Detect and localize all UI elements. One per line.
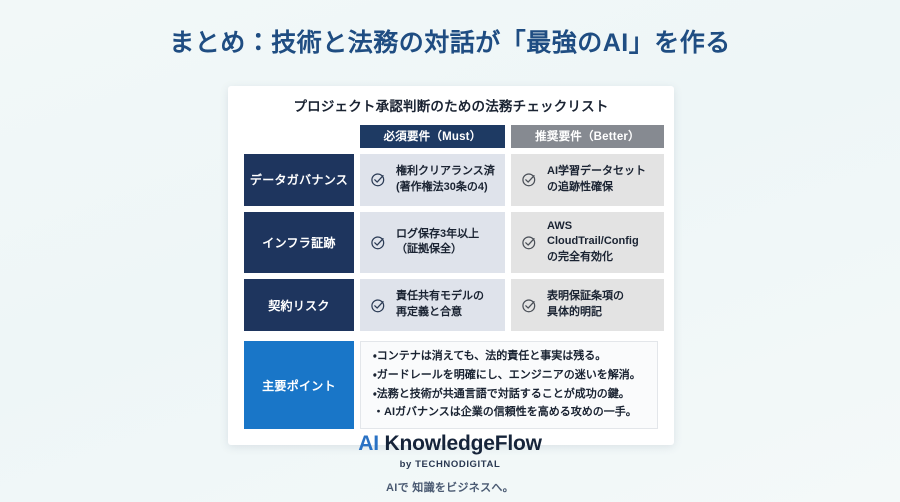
row-label-contract-risk: 契約リスク [244, 279, 354, 331]
column-header-must: 必須要件（Must） [360, 125, 505, 148]
check-circle-icon [521, 234, 538, 251]
key-points-section: 主要ポイント ・コンテナは消えても、法的責任と事実は残る。 ・ガードレールを明確… [244, 341, 658, 428]
row-label-data-governance: データガバナンス [244, 154, 354, 206]
cell-better-row2: AWS CloudTrail/Config の完全有効化 [511, 212, 664, 274]
cell-must-row2: ログ保存3年以上 （証拠保全） [360, 212, 505, 274]
cell-text: AI学習データセット の追跡性確保 [547, 164, 646, 196]
check-circle-icon [370, 171, 387, 188]
brand-tagline: AIで 知識をビジネスへ。 [0, 479, 900, 495]
key-points-label: 主要ポイント [244, 341, 354, 428]
page-title: まとめ：技術と法務の対話が「最強のAI」を作る [0, 0, 900, 58]
list-item: ・法務と技術が共通言語で対話することが成功の鍵。 [373, 387, 647, 403]
check-circle-icon [521, 297, 538, 314]
cell-text: 権利クリアランス済 (著作権法30条の4) [396, 164, 495, 196]
cell-text: AWS CloudTrail/Config の完全有効化 [547, 219, 656, 267]
matrix-corner-spacer [244, 125, 354, 148]
checklist-card: プロジェクト承認判断のための法務チェックリスト 必須要件（Must） 推奨要件（… [228, 86, 674, 445]
brand-name-accent: AI [358, 432, 379, 455]
row-label-infra-evidence: インフラ証跡 [244, 212, 354, 274]
list-item: ・コンテナは消えても、法的責任と事実は残る。 [373, 349, 647, 365]
check-circle-icon [370, 234, 387, 251]
checklist-matrix: 必須要件（Must） 推奨要件（Better） データガバナンス 権利クリアラン… [244, 125, 658, 332]
card-title: プロジェクト承認判断のための法務チェックリスト [244, 98, 658, 116]
brand-name: AI KnowledgeFlow [0, 432, 900, 455]
cell-text: 表明保証条項の 具体的明記 [547, 289, 624, 321]
list-item: ・ガードレールを明確にし、エンジニアの迷いを解消。 [373, 368, 647, 384]
check-circle-icon [370, 297, 387, 314]
footer-branding: AI KnowledgeFlow by TECHNODIGITAL AIで 知識… [0, 432, 900, 495]
cell-must-row3: 責任共有モデルの 再定義と合意 [360, 279, 505, 331]
cell-better-row3: 表明保証条項の 具体的明記 [511, 279, 664, 331]
column-header-better: 推奨要件（Better） [511, 125, 664, 148]
check-circle-icon [521, 171, 538, 188]
key-points-list: ・コンテナは消えても、法的責任と事実は残る。 ・ガードレールを明確にし、エンジニ… [360, 341, 658, 428]
cell-text: ログ保存3年以上 （証拠保全） [396, 227, 479, 259]
cell-better-row1: AI学習データセット の追跡性確保 [511, 154, 664, 206]
list-item: ・AIガバナンスは企業の信頼性を高める攻めの一手。 [373, 405, 647, 421]
cell-text: 責任共有モデルの 再定義と合意 [396, 289, 484, 321]
brand-name-rest: KnowledgeFlow [379, 432, 542, 455]
cell-must-row1: 権利クリアランス済 (著作権法30条の4) [360, 154, 505, 206]
brand-byline: by TECHNODIGITAL [0, 459, 900, 470]
